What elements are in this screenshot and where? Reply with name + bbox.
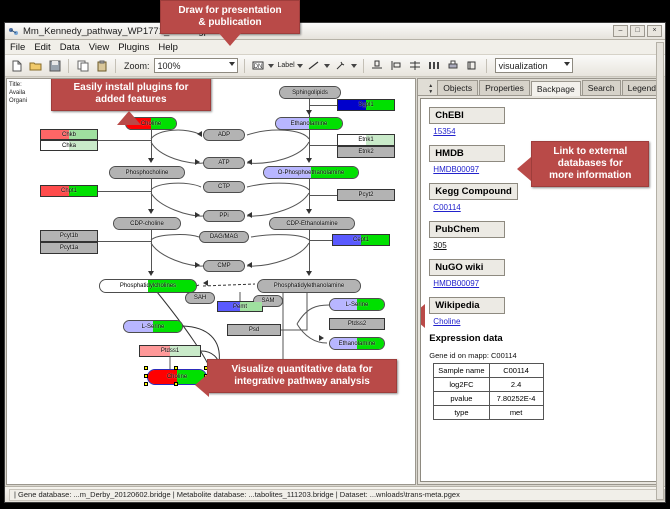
edge-chk-line [98,140,152,141]
menu-file[interactable]: File [10,42,25,53]
selection-handle[interactable] [174,366,178,370]
node-label: Pcyt1a [60,245,78,251]
metabolite-node-cdp-ethanolamine[interactable]: CDP-Ethanolamine [269,217,355,230]
table-cell-value: C00114 [489,364,543,378]
node-label: PPi [219,213,228,219]
table-row: pvalue7.80252E-4 [434,392,543,406]
selection-handle[interactable] [144,374,148,378]
canvas-available-label: Availa [9,90,25,96]
title-bar: Mm_Kennedy_pathway_WP1771_45176.gpml – □… [5,23,665,40]
metabolite-node-ppi[interactable]: PPi [203,210,245,222]
arrow-icon [203,280,208,286]
status-text: | Gene database: ...m_Derby_20120602.bri… [9,489,665,501]
side-panel: ▲▼ Objects Properties Backpage Search Le… [417,78,664,485]
db-header-kegg-compound: Kegg Compound [429,183,518,200]
node-label: Phosphocholine [126,170,169,176]
table-cell-key: type [434,406,489,420]
metabolite-node-phosphocholine[interactable]: Phosphocholine [109,166,185,179]
metabolite-node-l-serine[interactable]: L-Serine [123,320,183,333]
callout-plugins-line1: Easily install plugins for [58,82,204,94]
receptor-dropdown[interactable] [334,58,357,73]
canvas-organism-label: Organi [9,98,27,104]
tab-properties[interactable]: Properties [479,80,530,95]
gene-id-label: Gene id on mapp: C00114 [429,351,660,360]
arrow-icon [306,271,312,276]
gene-node-chka[interactable]: Chka [40,140,98,151]
db-header-hmdb: HMDB [429,145,505,162]
db-value-nugo-wiki[interactable]: HMDB00097 [433,279,660,288]
node-label: Ethanolamine [339,341,376,347]
print-icon[interactable] [446,58,461,73]
edge-cept1-line [309,240,332,241]
arrow-icon [247,159,252,165]
callout-draw-pointer [218,32,242,46]
table-row: log2FC2.4 [434,378,543,392]
menu-data[interactable]: Data [60,42,80,53]
main-body: Title: Availa Organi [5,77,665,486]
node-label: Ptdss2 [348,321,366,327]
paste-icon[interactable] [94,58,109,73]
node-label: Etnk2 [358,149,373,155]
menu-view[interactable]: View [89,42,109,53]
visualization-combo[interactable]: visualization [495,58,573,73]
arrow-icon [306,158,312,163]
datanode-icon: DN [251,58,266,73]
arrow-icon [195,212,200,218]
align-top-icon[interactable] [370,58,385,73]
edge-pcyt1-line [98,241,152,242]
node-label: L-Serine [142,324,165,330]
table-cell-value: 2.4 [489,378,543,392]
toolbar: Zoom: 100% DN Label [5,55,665,77]
db-header-chebi: ChEBI [429,107,505,124]
backpage-content: ChEBI15354HMDBHMDB00097Kegg CompoundC001… [420,98,661,482]
selection-handle[interactable] [174,382,178,386]
chevron-down-icon [324,64,330,68]
status-bar: | Gene database: ...m_Derby_20120602.bri… [5,486,665,502]
menu-edit[interactable]: Edit [34,42,50,53]
chevron-down-icon [297,64,303,68]
toolbar-separator [486,59,487,73]
callout-links-line2: databases for [538,158,642,170]
gene-node-pcyt2[interactable]: Pcyt2 [337,189,395,201]
node-label: Chpt1 [61,188,77,194]
expression-table: Sample nameC00114log2FC2.4pvalue7.80252E… [433,363,543,420]
callout-plugins: Easily install plugins for added feature… [51,78,211,111]
callout-expression-pointer [420,304,425,328]
layer-icon[interactable] [465,58,480,73]
side-panel-tabs: ▲▼ Objects Properties Backpage Search Le… [418,79,663,96]
edge-sgpl1-line [309,105,337,106]
db-header-nugo-wiki: NuGO wiki [429,259,505,276]
callout-links-line1: Link to external [538,146,642,158]
arrow-icon [195,159,200,165]
toolbar-separator [363,59,364,73]
table-cell-key: Sample name [434,364,489,378]
metabolite-node-sah[interactable]: SAH [185,292,215,304]
node-label: SAM [261,298,274,304]
metabolite-node-phosphatidylethanolamine[interactable]: Phosphatidylethanolamine [257,279,361,293]
toolbar-separator [68,59,69,73]
menu-plugins[interactable]: Plugins [118,42,149,53]
pathvisio-icon [8,26,19,37]
new-file-icon[interactable] [9,58,24,73]
maximize-button[interactable]: □ [630,25,645,37]
callout-visualize-line1: Visualize quantitative data for [214,364,390,376]
table-row: typemet [434,406,543,420]
node-label: Choline [141,121,161,127]
edge-choline-phosphocholine [151,130,152,160]
node-label: ATP [218,160,229,166]
table-cell-value: met [489,406,543,420]
node-label: SAH [194,295,206,301]
node-label: CMP [217,263,230,269]
gene-node-chkb[interactable]: Chkb [40,129,98,140]
toolbar-separator [115,59,116,73]
gene-node-pcyt1b[interactable]: Pcyt1b [40,230,98,242]
arrow-icon [306,209,312,214]
edge-phosphocholine-cdpcholine [151,179,152,211]
callout-draw-line2: & publication [167,17,293,29]
node-label: Pcyt1b [60,233,78,239]
callout-visualize-pointer [195,373,209,397]
node-label: Phosphatidylcholines [120,283,176,289]
save-icon[interactable] [47,58,62,73]
distribute-icon[interactable] [427,58,442,73]
node-label: Sphingolipids [292,90,328,96]
receptor-icon [334,58,349,73]
edge-cdpethanolamine-ptdethanolamine [309,230,310,273]
node-label: Pcyt2 [358,192,373,198]
metabolite-node-dag-mag[interactable]: DAG/MAG [199,231,249,243]
node-label: CDP-Ethanolamine [286,221,337,227]
menu-bar: File Edit Data View Plugins Help [5,40,665,55]
datanode-dropdown[interactable]: DN [251,58,274,73]
metabolite-node-sphingolipids[interactable]: Sphingolipids [279,86,341,99]
node-label: Ethanolamine [291,121,328,127]
arrow-icon [197,131,202,137]
metabolite-node-adp[interactable]: ADP [203,129,245,141]
arrow-icon [195,262,200,268]
arrow-icon [148,158,154,163]
zoom-label: Zoom: [124,61,150,71]
line-icon [307,58,322,73]
gene-node-ptdss2[interactable]: Ptdss2 [329,318,385,330]
arrow-icon [148,271,154,276]
selection-handle[interactable] [144,382,148,386]
chevron-down-icon [351,64,357,68]
minimize-button[interactable]: – [613,25,628,37]
callout-visualize-line2: integrative pathway analysis [214,376,390,388]
node-label: Chka [62,143,76,149]
gene-node-sgpl1[interactable]: Sgpl1 [337,99,395,111]
db-value-wikipedia[interactable]: Choline [433,317,660,326]
arrow-icon [247,262,252,268]
callout-draw: Draw for presentation & publication [160,0,300,34]
arrow-icon [306,110,312,115]
callout-draw-line1: Draw for presentation [167,5,293,17]
table-cell-key: pvalue [434,392,489,406]
arrow-icon [319,335,324,341]
edge-cdpcholine-ptdcholine [151,230,152,273]
sidebar-scrollbar[interactable] [656,42,664,500]
metabolite-node-ethanolamine[interactable]: Ethanolamine [329,337,385,350]
chevron-down-icon [268,64,274,68]
table-row: Sample nameC00114 [434,364,543,378]
node-label: O-Phosphoethanolamine [278,170,344,176]
metabolite-node-phosphatidylcholines[interactable]: Phosphatidylcholines [99,279,197,293]
callout-links-line3: more information [538,170,642,182]
toolbar-separator [244,59,245,73]
align-left-icon[interactable] [389,58,404,73]
pathway-canvas[interactable]: Title: Availa Organi [6,78,416,485]
metabolite-node-cdp-choline[interactable]: CDP-choline [113,217,181,230]
node-label: Pemt [233,304,247,310]
node-label: Choline [167,374,187,380]
tab-scroll-icon[interactable]: ▲▼ [428,83,435,95]
node-label: Ptdss1 [161,348,179,354]
callout-links: Link to external databases for more info… [531,141,649,187]
db-header-pubchem: PubChem [429,221,505,238]
node-label: Phosphatidylethanolamine [274,283,344,289]
gene-node-pcyt1a[interactable]: Pcyt1a [40,242,98,254]
arrow-icon [247,212,252,218]
zoom-combo[interactable]: 100% [154,58,238,73]
table-cell-value: 7.80252E-4 [489,392,543,406]
chevron-down-icon [564,62,570,66]
line-dropdown[interactable] [307,58,330,73]
gene-node-etnk1[interactable]: Etnk1 [337,134,395,146]
application-window: Mm_Kennedy_pathway_WP1771_45176.gpml – □… [4,22,666,503]
canvas-title-label: Title: [9,82,22,88]
db-value-pubchem: 305 [433,241,660,250]
gene-node-cept1[interactable]: Cept1 [332,234,390,246]
label-dropdown[interactable]: Label [278,62,303,69]
node-label: CTP [218,184,230,190]
node-label: L-Serine [346,302,369,308]
tab-backpage[interactable]: Backpage [531,81,581,96]
open-folder-icon[interactable] [28,58,43,73]
gene-node-psd[interactable]: Psd [227,324,281,336]
gene-node-pemt[interactable]: Pemt [217,301,263,312]
metabolite-node-cmp[interactable]: CMP [203,260,245,272]
node-label: DAG/MAG [210,234,238,240]
node-label: ADP [218,132,230,138]
menu-help[interactable]: Help [158,42,178,53]
window-controls: – □ × [613,25,662,37]
edge-etnk-line [309,145,337,146]
gene-node-chpt1[interactable]: Chpt1 [40,185,98,197]
node-label: CDP-choline [130,221,164,227]
gene-node-etnk2[interactable]: Etnk2 [337,146,395,158]
gene-node-ptdss1[interactable]: Ptdss1 [139,345,201,357]
stack-icon[interactable] [408,58,423,73]
metabolite-node-o-phosphoethanolamine[interactable]: O-Phosphoethanolamine [263,166,359,179]
svg-text:DN: DN [254,64,263,70]
node-label: Sgpl1 [358,102,373,108]
copy-icon[interactable] [75,58,90,73]
metabolite-node-ctp[interactable]: CTP [203,181,245,193]
node-label: Chkb [62,132,76,138]
db-value-kegg-compound[interactable]: C00114 [433,203,660,212]
db-header-wikipedia: Wikipedia [429,297,505,314]
database-link-list: ChEBI15354HMDBHMDB00097Kegg CompoundC001… [429,105,660,326]
node-label: Etnk1 [358,137,373,143]
callout-plugins-line2: added features [58,94,204,106]
callout-links-pointer [517,157,531,181]
metabolite-node-atp[interactable]: ATP [203,157,245,169]
node-label: Cept1 [353,237,369,243]
edge-chpt1-line [98,191,152,192]
edge-pcyt2-line [309,195,337,196]
label-button-text: Label [278,62,295,69]
table-cell-key: log2FC [434,378,489,392]
db-value-chebi[interactable]: 15354 [433,127,660,136]
close-button[interactable]: × [647,25,662,37]
arrow-icon [148,209,154,214]
visualization-value: visualization [499,61,548,71]
callout-plugins-pointer [117,111,141,125]
metabolite-node-l-serine[interactable]: L-Serine [329,298,385,311]
tab-search[interactable]: Search [582,80,621,95]
selection-handle[interactable] [144,366,148,370]
tab-objects[interactable]: Objects [437,80,478,95]
zoom-value: 100% [158,61,181,71]
chevron-down-icon [229,62,235,66]
node-label: Psd [249,327,259,333]
metabolite-node-ethanolamine[interactable]: Ethanolamine [275,117,343,130]
expression-data-title: Expression data [429,333,660,344]
callout-visualize: Visualize quantitative data for integrat… [207,359,397,393]
